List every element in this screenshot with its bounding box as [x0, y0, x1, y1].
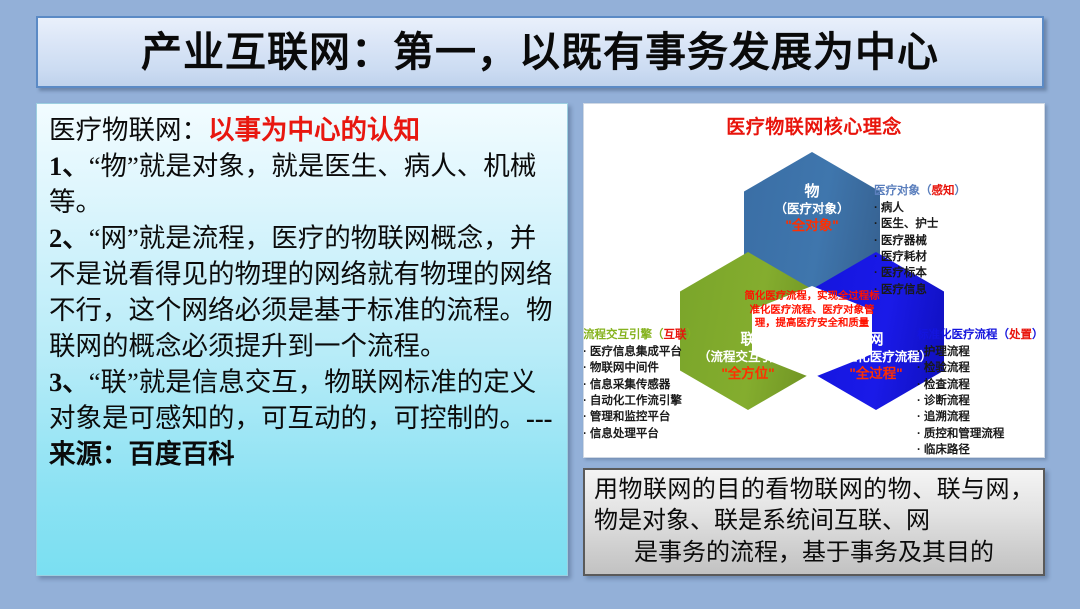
- list-item: 追溯流程: [917, 409, 1044, 425]
- left-item-3-number: 3、: [49, 367, 89, 397]
- hexagon-center-text: 简化医疗流程，实现全过程标准化医疗流程、医疗对象管理，提高医疗安全和质量: [744, 290, 880, 331]
- list-item: 检验流程: [917, 360, 1044, 376]
- list-item: 医生、护士: [874, 216, 966, 232]
- hexagon-diagram: 物 （医疗对象） "全对象" 联 （流程交互引擎） "全方位" 网 （标准化医疗…: [584, 104, 1045, 458]
- left-text-panel: 医疗物联网：以事为中心的认知 1、“物”就是对象，就是医生、病人、机械等。 2、…: [36, 103, 568, 576]
- list-process-engine-head: 流程交互引擎（互联）: [583, 326, 698, 342]
- list-item: 医疗信息集成平台: [583, 344, 698, 360]
- slide-canvas: 产业互联网：第一，以既有事务发展为中心 医疗物联网：以事为中心的认知 1、“物”…: [0, 0, 1080, 609]
- list-item: 信息采集传感器: [583, 377, 698, 393]
- list-head-tail: ）: [955, 185, 967, 197]
- slide-title-bar: 产业互联网：第一，以既有事务发展为中心: [36, 16, 1044, 88]
- caption-box: 用物联网的目的看物联网的物、联与网，物是对象、联是系统间互联、网是事务的流程，基…: [583, 468, 1045, 576]
- list-head-tag: 感知: [932, 185, 955, 197]
- hex-node-wu-sub: （医疗对象）: [774, 202, 849, 218]
- list-head-tag: 处置: [1009, 329, 1032, 341]
- list-item: 管理和监控平台: [583, 409, 698, 425]
- caption-line-1: 用物联网的目的看物联网的物、联与: [594, 477, 986, 503]
- list-item: 医疗耗材: [874, 249, 966, 265]
- page-title: 产业互联网：第一，以既有事务发展为中心: [141, 32, 939, 73]
- list-head-text: 标准化医疗流程（: [917, 329, 1009, 341]
- left-item-1-number: 1、: [49, 151, 89, 181]
- hex-node-wu-tag: "全对象": [774, 218, 849, 235]
- list-head-text: 医疗对象（: [874, 185, 932, 197]
- list-head-tail: ）: [1032, 329, 1044, 341]
- list-item: 护理流程: [917, 344, 1044, 360]
- diagram-card: 医疗物联网核心理念 物 （医疗对象） "全对象" 联 （流程交互引擎） "全方位…: [583, 103, 1045, 458]
- list-item: 医疗标本: [874, 265, 966, 281]
- left-text-body: 医疗物联网：以事为中心的认知 1、“物”就是对象，就是医生、病人、机械等。 2、…: [49, 112, 557, 472]
- list-item: 临床路径: [917, 442, 1044, 458]
- left-heading-highlight: 以事为中心的认知: [208, 115, 420, 145]
- left-item-2-number: 2、: [49, 223, 89, 253]
- left-item-1: 1、“物”就是对象，就是医生、病人、机械等。: [49, 148, 557, 220]
- left-heading: 医疗物联网：以事为中心的认知: [49, 112, 557, 148]
- hex-node-wang-tag: "全过程": [820, 366, 933, 383]
- list-head-tail: ）: [687, 329, 699, 341]
- list-process-engine: 流程交互引擎（互联） 医疗信息集成平台 物联网中间件 信息采集传感器 自动化工作…: [583, 326, 698, 442]
- list-head-text: 流程交互引擎（: [583, 329, 664, 341]
- list-medical-objects: 医疗对象（感知） 病人 医生、护士 医疗器械 医疗耗材 医疗标本 医疗信息: [874, 182, 966, 298]
- caption-text: 用物联网的目的看物联网的物、联与网，物是对象、联是系统间互联、网是事务的流程，基…: [594, 475, 1034, 569]
- list-item: 医疗信息: [874, 282, 966, 298]
- left-item-2-text: “网”就是流程，医疗的物联网概念，并不是说看得见的物理的网络就有物理的网络不行，…: [49, 223, 553, 361]
- list-item: 检查流程: [917, 377, 1044, 393]
- list-item: 诊断流程: [917, 393, 1044, 409]
- list-head-tag: 互联: [664, 329, 687, 341]
- hex-node-lian-tag: "全方位": [698, 366, 798, 383]
- caption-line-3: 是事务的流程，基于事务及其目的: [594, 538, 1034, 569]
- list-item: 信息处理平台: [583, 426, 698, 442]
- list-standard-process-head: 标准化医疗流程（处置）: [917, 326, 1044, 342]
- left-item-3-text: “联”就是信息交互，物联网标准的定义对象是可感知的，可互动的，可控制的。: [49, 367, 536, 433]
- list-medical-objects-head: 医疗对象（感知）: [874, 182, 966, 198]
- list-item: 自动化工作流引擎: [583, 393, 698, 409]
- list-item: 质控和管理流程: [917, 426, 1044, 442]
- left-item-3: 3、“联”就是信息交互，物联网标准的定义对象是可感知的，可互动的，可控制的。--…: [49, 364, 557, 472]
- left-item-1-text: “物”就是对象，就是医生、病人、机械等。: [49, 151, 536, 217]
- list-item: 物联网中间件: [583, 360, 698, 376]
- list-standard-process: 标准化医疗流程（处置） 护理流程 检验流程 检查流程 诊断流程 追溯流程 质控和…: [917, 326, 1044, 458]
- left-heading-prefix: 医疗物联网：: [49, 115, 208, 145]
- list-item: 医疗器械: [874, 233, 966, 249]
- hex-node-wu-label: 物: [774, 183, 849, 202]
- list-item: 病人: [874, 200, 966, 216]
- left-item-2: 2、“网”就是流程，医疗的物联网概念，并不是说看得见的物理的网络就有物理的网络不…: [49, 220, 557, 364]
